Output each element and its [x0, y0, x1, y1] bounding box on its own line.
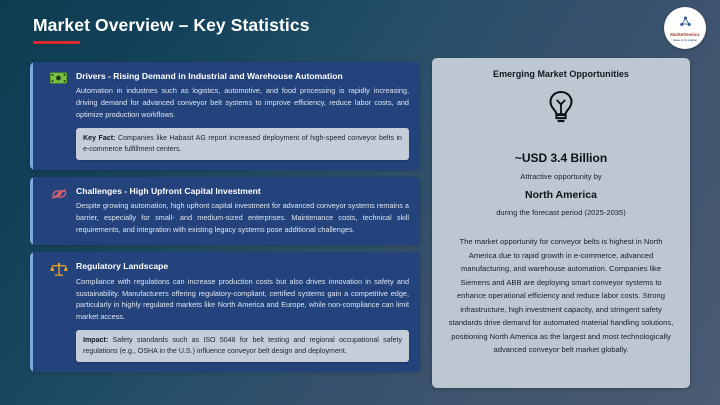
page-header: Market Overview – Key Statistics	[33, 16, 310, 44]
emerging-opportunities-panel: Emerging Market Opportunities ~USD 3.4 B…	[432, 58, 690, 388]
panel-title: Emerging Market Opportunities	[493, 69, 629, 79]
card-accent-bar	[30, 252, 33, 372]
info-card-regulatory: Regulatory Landscape Compliance with reg…	[30, 252, 420, 372]
callout-label: Key Fact:	[83, 134, 115, 142]
callout-label: Impact:	[83, 336, 108, 344]
card-text: Despite growing automation, high upfront…	[76, 200, 409, 235]
money-banknote-icon	[50, 71, 76, 84]
opportunity-subtitle: Attractive opportunity by	[520, 172, 601, 181]
network-nodes-icon	[679, 14, 692, 32]
opportunity-period: during the forecast period (2025-2035)	[496, 208, 626, 217]
card-title: Drivers - Rising Demand in Industrial an…	[76, 71, 409, 81]
card-title: Challenges - High Upfront Capital Invest…	[76, 186, 409, 196]
callout-text: Companies like Habasit AG report increas…	[83, 134, 402, 153]
card-callout-impact: Impact: Safety standards such as ISO 504…	[76, 330, 409, 362]
title-underline-accent	[33, 41, 80, 44]
opportunity-value: ~USD 3.4 Billion	[515, 151, 607, 165]
callout-text: Safety standards such as ISO 5048 for be…	[83, 336, 402, 355]
opportunity-paragraph: The market opportunity for conveyor belt…	[446, 235, 676, 357]
page-title: Market Overview – Key Statistics	[33, 16, 310, 35]
info-card-drivers: Drivers - Rising Demand in Industrial an…	[30, 62, 420, 170]
card-text: Automation in industries such as logisti…	[76, 85, 409, 120]
lightbulb-icon	[546, 90, 576, 129]
card-callout-key-fact: Key Fact: Companies like Habasit AG repo…	[76, 128, 409, 160]
broken-link-icon	[50, 186, 76, 201]
insight-cards-column: Drivers - Rising Demand in Industrial an…	[30, 62, 420, 372]
opportunity-region: North America	[525, 189, 597, 201]
logo-tagline: Ideas to Innovation	[673, 39, 697, 42]
card-title: Regulatory Landscape	[76, 261, 409, 271]
brand-logo: MarketGenics Ideas to Innovation	[664, 7, 706, 49]
card-accent-bar	[30, 177, 33, 246]
card-text: Compliance with regulations can increase…	[76, 276, 409, 323]
card-accent-bar	[30, 62, 33, 170]
info-card-challenges: Challenges - High Upfront Capital Invest…	[30, 177, 420, 246]
balance-scale-icon	[50, 261, 76, 277]
